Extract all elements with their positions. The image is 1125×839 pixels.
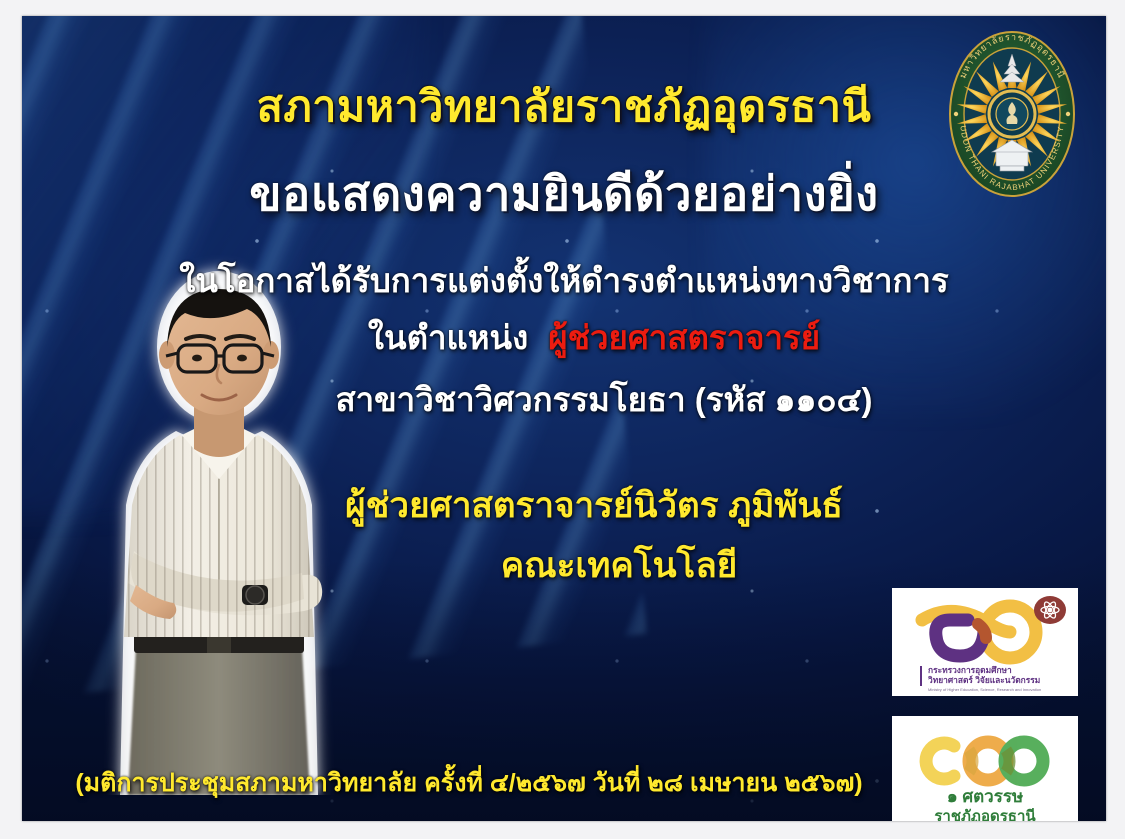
congratulation-banner: มหาวิทยาลัยราชภัฏอุดรธานี UDON THANI RAJ… bbox=[22, 16, 1106, 821]
centenary-logo: ๑ ศตวรรษ ราชภัฏอุดรธานี bbox=[892, 716, 1078, 821]
honoree-name: ผู้ช่วยศาสตราจารย์นิวัตร ภูมิพันธ์ bbox=[22, 478, 1106, 533]
position-rank: ผู้ช่วยศาสตราจารย์ bbox=[548, 319, 820, 356]
ministry-higher-education-logo: กระทรวงการอุดมศึกษา วิทยาศาสตร์ วิจัยและ… bbox=[892, 588, 1078, 696]
banner-occasion-line: ในโอกาสได้รับการแต่งตั้งให้ดำรงตำแหน่งทา… bbox=[22, 254, 1106, 307]
page-root: มหาวิทยาลัยราชภัฏอุดรธานี UDON THANI RAJ… bbox=[0, 0, 1125, 839]
banner-position-line: ในตำแหน่งผู้ช่วยศาสตราจารย์ bbox=[22, 311, 1106, 364]
centenary-thai-line2: ราชภัฏอุดรธานี bbox=[934, 808, 1036, 821]
ministry-english-line: Ministry of Higher Education, Science, R… bbox=[928, 687, 1041, 692]
banner-title-line1: สภามหาวิทยาลัยราชภัฏอุดรธานี bbox=[22, 72, 1106, 140]
ministry-logo-icon: กระทรวงการอุดมศึกษา วิทยาศาสตร์ วิจัยและ… bbox=[892, 588, 1078, 696]
banner-field-line: สาขาวิชาวิศวกรรมโยธา (รหัส ๑๑๐๔) bbox=[22, 373, 1106, 426]
position-label: ในตำแหน่ง bbox=[368, 319, 528, 356]
centenary-thai-line1: ๑ ศตวรรษ bbox=[947, 787, 1023, 806]
centenary-logo-icon: ๑ ศตวรรษ ราชภัฏอุดรธานี bbox=[892, 716, 1078, 821]
banner-title-line2: ขอแสดงความยินดีด้วยอย่างยิ่ง bbox=[22, 156, 1106, 231]
banner-text-content: สภามหาวิทยาลัยราชภัฏอุดรธานี ขอแสดงความย… bbox=[22, 16, 1106, 821]
honoree-faculty: คณะเทคโนโลยี bbox=[22, 538, 1106, 593]
ministry-thai-line2: วิทยาศาสตร์ วิจัยและนวัตกรรม bbox=[928, 675, 1041, 685]
